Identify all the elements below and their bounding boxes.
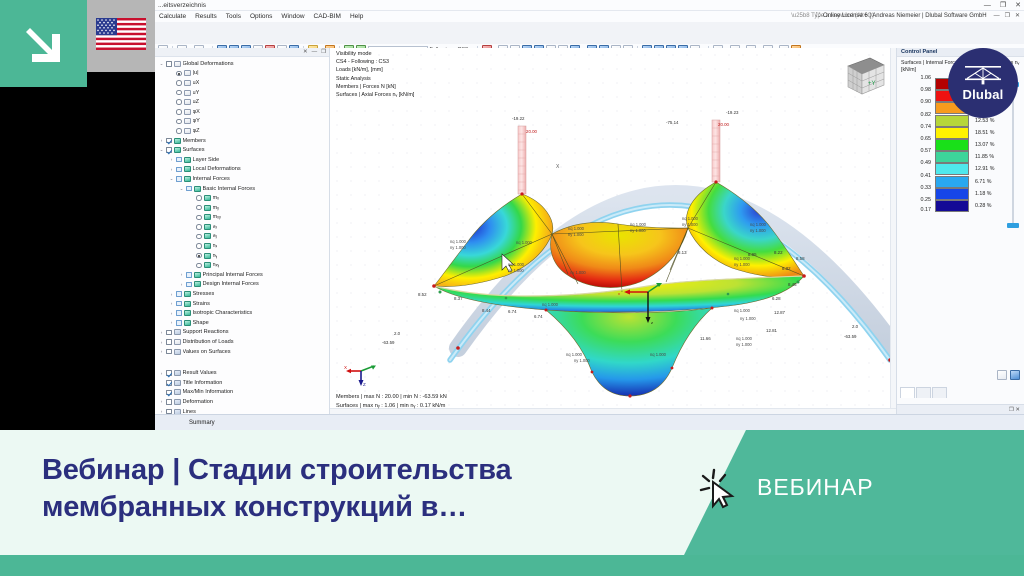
model-label: 2.0	[852, 324, 859, 329]
tree-item-label: Shape	[193, 320, 209, 326]
menu-item-results[interactable]: Results	[195, 13, 217, 20]
model-label: 8.37	[454, 296, 463, 301]
doc-minimize-icon[interactable]: —	[994, 11, 1000, 22]
view-navigation-cube[interactable]: +Y	[840, 54, 886, 98]
tree-item-label: φX	[193, 109, 200, 115]
viewport-status-text: Members | max N : 20.00 | min N : -63.59…	[336, 393, 447, 410]
tree-checkbox[interactable]	[166, 370, 172, 376]
legend-percent: 12.91 %	[969, 166, 994, 172]
status-surfaces: Surfaces | max nᵧ : 1.06 | min nᵧ : 0.17…	[336, 402, 447, 411]
legend-value: 1.06	[903, 75, 935, 81]
tree-twisty-icon[interactable]: ›	[169, 320, 174, 325]
tree-checkbox[interactable]	[176, 301, 182, 307]
model-label: 12.81	[766, 328, 778, 333]
axis-triad: X Z	[344, 362, 378, 388]
tree-item-label: φY	[193, 118, 200, 124]
model-label: 8.44	[482, 308, 491, 313]
banner-cta-label: ВЕБИНАР	[757, 474, 874, 501]
teal-item-icon	[194, 281, 201, 287]
svg-text:nq 1.000: nq 1.000	[450, 239, 467, 244]
num-item-icon	[174, 370, 181, 376]
tree-checkbox[interactable]	[186, 272, 192, 278]
tree-checkbox[interactable]	[186, 282, 192, 288]
tree-item-values-on-surfaces[interactable]: ›Values on Surfaces	[159, 347, 329, 357]
tree-item-deformation[interactable]: ›Deformation	[159, 397, 329, 407]
model-label: -19.23	[726, 110, 739, 115]
tree-checkbox[interactable]	[176, 167, 182, 173]
app-titlebar: ...eitsverzeichnis — ❐ ✕	[155, 0, 1024, 11]
tree-item-surfaces[interactable]: ⌄Surfaces	[159, 145, 329, 155]
svg-text:nq 1.000: nq 1.000	[630, 222, 647, 227]
tree-twisty-icon[interactable]: ⌄	[159, 147, 164, 153]
status-members: Members | max N : 20.00 | min N : -63.59…	[336, 393, 447, 402]
tree-twisty-icon[interactable]: ›	[169, 301, 174, 306]
svg-text:nq 1.000: nq 1.000	[516, 240, 533, 245]
svg-text:ny 1.000: ny 1.000	[734, 262, 750, 267]
tree-twisty-icon[interactable]: ⌄	[179, 186, 184, 192]
frame-item-icon	[184, 128, 191, 134]
tree-checkbox[interactable]	[166, 330, 172, 336]
tree-twisty-icon[interactable]: ›	[169, 157, 174, 162]
tree-item-members[interactable]: ›Members	[159, 136, 329, 146]
tree-item-m[interactable]: mₓᵧ	[159, 213, 329, 223]
teal-item-icon	[184, 166, 191, 172]
tree-item-label: mₓᵧ	[213, 214, 221, 220]
legend-color-swatch	[935, 127, 969, 139]
legend-value: 0.90	[903, 99, 935, 105]
click-cursor-icon	[698, 466, 744, 512]
work-area: ✕ — ❐ ⌄Global Deformations|u|uXuYuZφXφYφ…	[155, 48, 1024, 414]
tree-radio[interactable]	[196, 263, 202, 269]
model-label: 8.22	[774, 250, 783, 255]
tab-display-factors[interactable]	[916, 387, 931, 398]
tree-radio[interactable]	[196, 215, 202, 221]
panel-scale-icon[interactable]	[1010, 370, 1020, 380]
model-label: 2.0	[394, 331, 401, 336]
model-label: -63.59	[382, 340, 395, 345]
tree-item-label: φZ	[193, 128, 200, 134]
dlubal-truss-icon	[963, 65, 1003, 85]
teal-item-icon	[204, 262, 211, 268]
tree-radio[interactable]	[196, 205, 202, 211]
panel-close-icon[interactable]: ✕	[1015, 407, 1020, 413]
frame-item-icon	[184, 80, 191, 86]
tree-item-max-min-information[interactable]: Max/Min Information	[159, 388, 329, 398]
svg-text:ny 1.000: ny 1.000	[450, 245, 466, 250]
tree-twisty-icon[interactable]: ›	[159, 340, 164, 345]
summary-tab-bar[interactable]: Summary	[155, 414, 1024, 430]
banner-bottom-strip	[0, 555, 1024, 576]
tree-item-label: uZ	[193, 99, 200, 105]
tree-item-strains[interactable]: ›Strains	[159, 299, 329, 309]
tree-item-stresses[interactable]: ›Stresses	[159, 289, 329, 299]
tree-item-label: Basic Internal Forces	[203, 186, 256, 192]
tree-item-ux[interactable]: uX	[159, 78, 329, 88]
tree-item-label: mᵧ	[213, 205, 219, 211]
teal-item-icon	[174, 147, 181, 153]
tree-item-label: nₓ	[213, 243, 218, 249]
legend-percent: 12.53 %	[969, 118, 994, 124]
svg-text:X: X	[344, 365, 347, 370]
model-label: -75.14	[666, 120, 679, 125]
info-line-visibility-mode: Visibility mode	[336, 50, 414, 58]
results-navigator-panel[interactable]: ✕ — ❐ ⌄Global Deformations|u|uXuYuZφXφYφ…	[155, 48, 330, 414]
legend-value: 0.57	[903, 148, 935, 154]
control-panel-footer: ❐ ✕	[897, 404, 1024, 414]
menu-item-tools[interactable]: Tools	[226, 13, 241, 20]
svg-text:nq 1.000: nq 1.000	[734, 308, 751, 313]
num-item-icon	[174, 380, 181, 386]
tree-radio[interactable]	[176, 99, 182, 105]
document-window-controls[interactable]: — ❐ ✕	[994, 11, 1020, 22]
legend-color-swatch	[935, 163, 969, 175]
legend-color-swatch	[935, 176, 969, 188]
navigator-close-icon[interactable]: ✕	[303, 49, 308, 55]
tree-item-uz[interactable]: uZ	[159, 97, 329, 107]
tab-filter[interactable]	[932, 387, 947, 398]
minimize-icon[interactable]: —	[984, 0, 991, 11]
legend-color-swatch	[935, 200, 969, 212]
navigator-tree-secondary[interactable]: ›Result ValuesTitle InformationMax/Min I…	[155, 366, 329, 414]
svg-text:z: z	[651, 320, 653, 325]
tree-item-x[interactable]: φX	[159, 107, 329, 117]
tree-item-label: Values on Surfaces	[183, 349, 231, 355]
tree-item-v[interactable]: vₓ	[159, 222, 329, 232]
svg-text:nq 1.000: nq 1.000	[682, 216, 699, 221]
legend-value: 0.49	[903, 160, 935, 166]
control-panel-tabs[interactable]	[897, 387, 947, 398]
svg-text:ny 1.000: ny 1.000	[630, 228, 646, 233]
teal-item-icon	[204, 233, 211, 239]
model-label: 6.74	[534, 314, 543, 319]
flag-container	[87, 0, 155, 72]
tree-item-support-reactions[interactable]: ›Support Reactions	[159, 328, 329, 338]
model-label: 12.87	[774, 310, 786, 315]
app-title: ...eitsverzeichnis	[158, 2, 206, 9]
teal-item-icon	[194, 186, 201, 192]
navigator-restore-icon[interactable]: ❐	[321, 49, 326, 55]
tree-item-z[interactable]: φZ	[159, 126, 329, 136]
model-label: 8.52	[418, 292, 427, 297]
svg-text:ny 1.000: ny 1.000	[750, 228, 766, 233]
axis-label-x: X	[556, 164, 560, 170]
summary-label[interactable]: Summary	[189, 420, 215, 426]
tree-item-label: Global Deformations	[183, 61, 234, 67]
frame-item-icon	[184, 70, 191, 76]
model-label: 8.13	[678, 250, 687, 255]
model-label: 8.45	[788, 282, 797, 287]
model-label: 6.28	[772, 296, 781, 301]
tree-checkbox[interactable]	[186, 186, 192, 192]
tree-item-label: Layer Side	[193, 157, 220, 163]
model-label: 8.32	[782, 266, 791, 271]
teal-item-icon	[204, 214, 211, 220]
tree-item-label: Stresses	[193, 291, 215, 297]
tree-checkbox[interactable]	[166, 399, 172, 405]
tree-twisty-icon[interactable]: ⌄	[159, 61, 164, 67]
tree-radio[interactable]	[176, 128, 182, 134]
tree-checkbox[interactable]	[166, 349, 172, 355]
tree-twisty-icon[interactable]: ›	[179, 272, 184, 277]
tree-radio[interactable]	[176, 71, 182, 77]
tree-twisty-icon[interactable]: ›	[169, 167, 174, 172]
tree-item-n[interactable]: nₓ	[159, 241, 329, 251]
3d-viewport[interactable]: Visibility mode CS4 - Following : CS3 Lo…	[330, 48, 896, 414]
svg-text:ny 1.000: ny 1.000	[570, 270, 586, 275]
menu-item-options[interactable]: Options	[250, 13, 272, 20]
tree-checkbox[interactable]	[166, 138, 172, 144]
navigator-tree[interactable]: ⌄Global Deformations|u|uXuYuZφXφYφZ›Memb…	[155, 57, 329, 356]
tree-item-label: Surfaces	[183, 147, 205, 153]
us-flag-icon	[96, 18, 146, 50]
tree-item-label: Design Internal Forces	[203, 281, 259, 287]
num-item-icon	[174, 389, 181, 395]
legend-value: 0.98	[903, 87, 935, 93]
tree-item-distribution-of-loads[interactable]: ›Distribution of Loads	[159, 337, 329, 347]
doc-close-icon[interactable]: ✕	[1015, 11, 1020, 22]
teal-item-icon	[174, 138, 181, 144]
tree-twisty-icon[interactable]: ›	[159, 138, 164, 143]
tree-radio[interactable]	[176, 119, 182, 125]
legend-color-swatch	[935, 139, 969, 151]
legend-value: 0.82	[903, 112, 935, 118]
svg-text:nq 1.000: nq 1.000	[566, 352, 583, 357]
tree-twisty-icon[interactable]: ›	[159, 330, 164, 335]
teal-item-icon	[184, 310, 191, 316]
tree-checkbox[interactable]	[176, 320, 182, 326]
license-info: ⛶ Online License 6 | Andreas Niemeier | …	[816, 11, 1020, 22]
svg-text:nq 1.000: nq 1.000	[568, 226, 585, 231]
legend-value: 0.41	[903, 173, 935, 179]
tree-item-design-internal-forces[interactable]: ›Design Internal Forces	[159, 280, 329, 290]
svg-text:nq 1.000: nq 1.000	[508, 262, 525, 267]
tree-item-label: Principal Internal Forces	[203, 272, 263, 278]
tree-checkbox[interactable]	[176, 176, 182, 182]
tree-item-label: Members	[183, 138, 206, 144]
num-item-icon	[174, 399, 181, 405]
tree-item-label: Support Reactions	[183, 329, 229, 335]
window-controls[interactable]: — ❐ ✕	[984, 0, 1021, 11]
tree-twisty-icon[interactable]: ›	[169, 311, 174, 316]
menu-item-help[interactable]: Help	[350, 13, 363, 20]
svg-text:ny 1.000: ny 1.000	[740, 316, 756, 321]
tree-item-title-information[interactable]: Title Information	[159, 378, 329, 388]
model-label: 6.74	[508, 309, 517, 314]
tree-item-lines[interactable]: ›Lines	[159, 407, 329, 414]
svg-text:+Y: +Y	[868, 81, 876, 87]
tree-radio[interactable]	[196, 195, 202, 201]
info-line-surfaces: Surfaces | Axial Forces nᵧ [kN/m]	[336, 91, 414, 99]
tree-item-result-values[interactable]: ›Result Values	[159, 368, 329, 378]
teal-item-icon	[204, 253, 211, 259]
black-left-panel	[0, 87, 155, 430]
tree-twisty-icon[interactable]: ›	[159, 371, 164, 376]
num-item-icon	[174, 349, 181, 355]
tree-radio[interactable]	[196, 224, 202, 230]
tree-item-label: nᵧ	[213, 253, 218, 259]
tree-twisty-icon[interactable]: ›	[159, 399, 164, 404]
tree-radio[interactable]	[176, 80, 182, 86]
close-icon[interactable]: ✕	[1015, 0, 1021, 11]
teal-item-icon	[204, 224, 211, 230]
tree-item-global-deformations[interactable]: ⌄Global Deformations	[159, 59, 329, 69]
frame-item-icon	[184, 90, 191, 96]
bottom-banner: Вебинар | Стадии строительства мембранны…	[0, 430, 1024, 576]
license-text: Online License 6 | Andreas Niemeier | Dl…	[823, 11, 987, 22]
legend-color-swatch	[935, 188, 969, 200]
info-line-loads: Loads [kN/m], [mm]	[336, 66, 414, 74]
teal-item-icon	[204, 195, 211, 201]
svg-text:Z: Z	[363, 382, 366, 387]
rfem-application-window: ...eitsverzeichnis — ❐ ✕ Calculate Resul…	[155, 0, 1024, 430]
teal-item-icon	[184, 320, 191, 326]
tree-item-label: Max/Min Information	[183, 389, 234, 395]
legend-percent: 1.18 %	[969, 191, 992, 197]
legend-percent: 13.07 %	[969, 142, 994, 148]
tab-color-scale[interactable]	[900, 387, 915, 398]
frame-item-icon	[184, 109, 191, 115]
tree-item-label: |u|	[193, 70, 199, 76]
tree-radio[interactable]	[196, 253, 202, 259]
tree-item-shape[interactable]: ›Shape	[159, 318, 329, 328]
tree-checkbox[interactable]	[166, 380, 172, 386]
tree-item-isotropic-characteristics[interactable]: ›Isotropic Characteristics	[159, 308, 329, 318]
legend-value: 0.17	[903, 207, 935, 213]
tree-item-label: vᵧ	[213, 233, 218, 239]
panel-settings-icon[interactable]	[997, 370, 1007, 380]
navigator-header: ✕ — ❐	[155, 48, 329, 57]
doc-restore-icon[interactable]: ❐	[1005, 11, 1010, 22]
model-label: 20.00	[526, 129, 538, 134]
viewport-info-text: Visibility mode CS4 - Following : CS3 Lo…	[336, 50, 414, 99]
svg-text:nq 1.000: nq 1.000	[542, 302, 559, 307]
tree-item-basic-internal-forces[interactable]: ⌄Basic Internal Forces	[159, 184, 329, 194]
menu-item-calculate[interactable]: Calculate	[159, 13, 186, 20]
tree-item-layer-side[interactable]: ›Layer Side	[159, 155, 329, 165]
svg-text:nq 1.000: nq 1.000	[734, 256, 751, 261]
legend-percent: 18.51 %	[969, 130, 994, 136]
info-line-stage: CS4 - Following : CS3	[336, 58, 414, 66]
frame-item-icon	[174, 61, 181, 67]
tree-twisty-icon[interactable]: ›	[169, 292, 174, 297]
teal-item-icon	[204, 205, 211, 211]
banner-title-line2: мембранных конструкций в…	[42, 489, 682, 526]
model-label: 11.66	[700, 336, 711, 341]
tree-checkbox[interactable]	[166, 339, 172, 345]
tree-item-label: Local Deformations	[193, 166, 241, 172]
tree-twisty-icon[interactable]: ›	[159, 349, 164, 354]
tree-item-n[interactable]: nᵧ	[159, 251, 329, 261]
tree-twisty-icon[interactable]: ⌄	[169, 176, 174, 182]
tree-checkbox[interactable]	[176, 310, 182, 316]
model-label: 8.58	[796, 256, 805, 261]
svg-text:nq 1.000: nq 1.000	[650, 352, 667, 357]
menu-item-cad-bim[interactable]: CAD-BIM	[314, 13, 341, 20]
tree-radio[interactable]	[176, 90, 182, 96]
control-panel-buttons[interactable]	[997, 370, 1020, 380]
tree-twisty-icon[interactable]: ›	[179, 282, 184, 287]
tree-item-label: Deformation	[183, 399, 213, 405]
svg-text:ny 1.000: ny 1.000	[508, 268, 524, 273]
tree-checkbox[interactable]	[166, 390, 172, 396]
legend-value: 0.74	[903, 124, 935, 130]
tree-radio[interactable]	[196, 234, 202, 240]
tree-item-uy[interactable]: uY	[159, 88, 329, 98]
tree-item-u[interactable]: |u|	[159, 69, 329, 79]
tree-item-label: Title Information	[183, 380, 223, 386]
tree-item-v[interactable]: vᵧ	[159, 232, 329, 242]
model-label: -63.59	[844, 334, 857, 339]
tree-item-label: mₓ	[213, 195, 220, 201]
tree-item-local-deformations[interactable]: ›Local Deformations	[159, 165, 329, 175]
frame-item-icon	[174, 339, 181, 345]
tree-radio[interactable]	[176, 109, 182, 115]
tree-item-label: Distribution of Loads	[183, 339, 234, 345]
tree-item-label: Result Values	[183, 370, 217, 376]
svg-text:ny 1.000: ny 1.000	[568, 232, 584, 237]
tree-item-n[interactable]: nₓᵧ	[159, 260, 329, 270]
tree-item-label: vₓ	[213, 224, 218, 230]
tree-item-principal-internal-forces[interactable]: ›Principal Internal Forces	[159, 270, 329, 280]
model-label: -19.22	[512, 116, 525, 121]
tree-radio[interactable]	[196, 243, 202, 249]
arrow-down-right-icon	[22, 22, 66, 66]
tree-item-label: Internal Forces	[193, 176, 230, 182]
svg-text:x: x	[618, 291, 620, 296]
license-icon: ⛶	[816, 11, 820, 22]
legend-value: 0.65	[903, 136, 935, 142]
info-line-analysis: Static Analysis	[336, 75, 414, 83]
frame-item-icon	[184, 118, 191, 124]
frame-item-icon	[184, 99, 191, 105]
teal-item-icon	[184, 301, 191, 307]
menu-item-window[interactable]: Window	[281, 13, 304, 20]
legend-value: 0.25	[903, 197, 935, 203]
num-item-icon	[174, 329, 181, 335]
teal-item-icon	[194, 272, 201, 278]
legend-percent: 6.71 %	[969, 179, 992, 185]
teal-item-icon	[184, 291, 191, 297]
tree-item-internal-forces[interactable]: ⌄Internal Forces	[159, 174, 329, 184]
search-icon: \u25b8	[791, 13, 809, 19]
tree-item-y[interactable]: φY	[159, 117, 329, 127]
svg-text:ny 1.000: ny 1.000	[736, 342, 752, 347]
tree-checkbox[interactable]	[176, 157, 182, 163]
membrane-structure-model: x z -75.14 -19.22 -19.23 20.00	[330, 48, 896, 414]
panel-restore-icon[interactable]: ❐	[1009, 407, 1014, 413]
tree-item-m[interactable]: mₓ	[159, 193, 329, 203]
svg-text:nq 1.000: nq 1.000	[750, 222, 767, 227]
maximize-icon[interactable]: ❐	[1000, 0, 1006, 11]
legend-slider-knob-bottom[interactable]	[1007, 223, 1019, 228]
model-label: 20.00	[718, 122, 730, 127]
banner-title: Вебинар | Стадии строительства мембранны…	[42, 452, 682, 526]
legend-color-swatch	[935, 151, 969, 163]
svg-text:ny 1.000: ny 1.000	[682, 222, 698, 227]
tree-checkbox[interactable]	[176, 291, 182, 297]
tree-item-m[interactable]: mᵧ	[159, 203, 329, 213]
teal-item-icon	[184, 176, 191, 182]
dlubal-logo-text: Dlubal	[963, 87, 1004, 102]
tree-checkbox[interactable]	[166, 147, 172, 153]
navigator-minimize-icon[interactable]: —	[312, 49, 318, 55]
legend-percent: 0.28 %	[969, 203, 992, 209]
tree-checkbox[interactable]	[166, 61, 172, 67]
tree-item-label: uX	[193, 80, 200, 86]
svg-text:nq 1.000: nq 1.000	[736, 336, 753, 341]
legend-slider-track[interactable]	[1012, 86, 1014, 224]
screenshot-root: ...eitsverzeichnis — ❐ ✕ Calculate Resul…	[0, 0, 1024, 576]
